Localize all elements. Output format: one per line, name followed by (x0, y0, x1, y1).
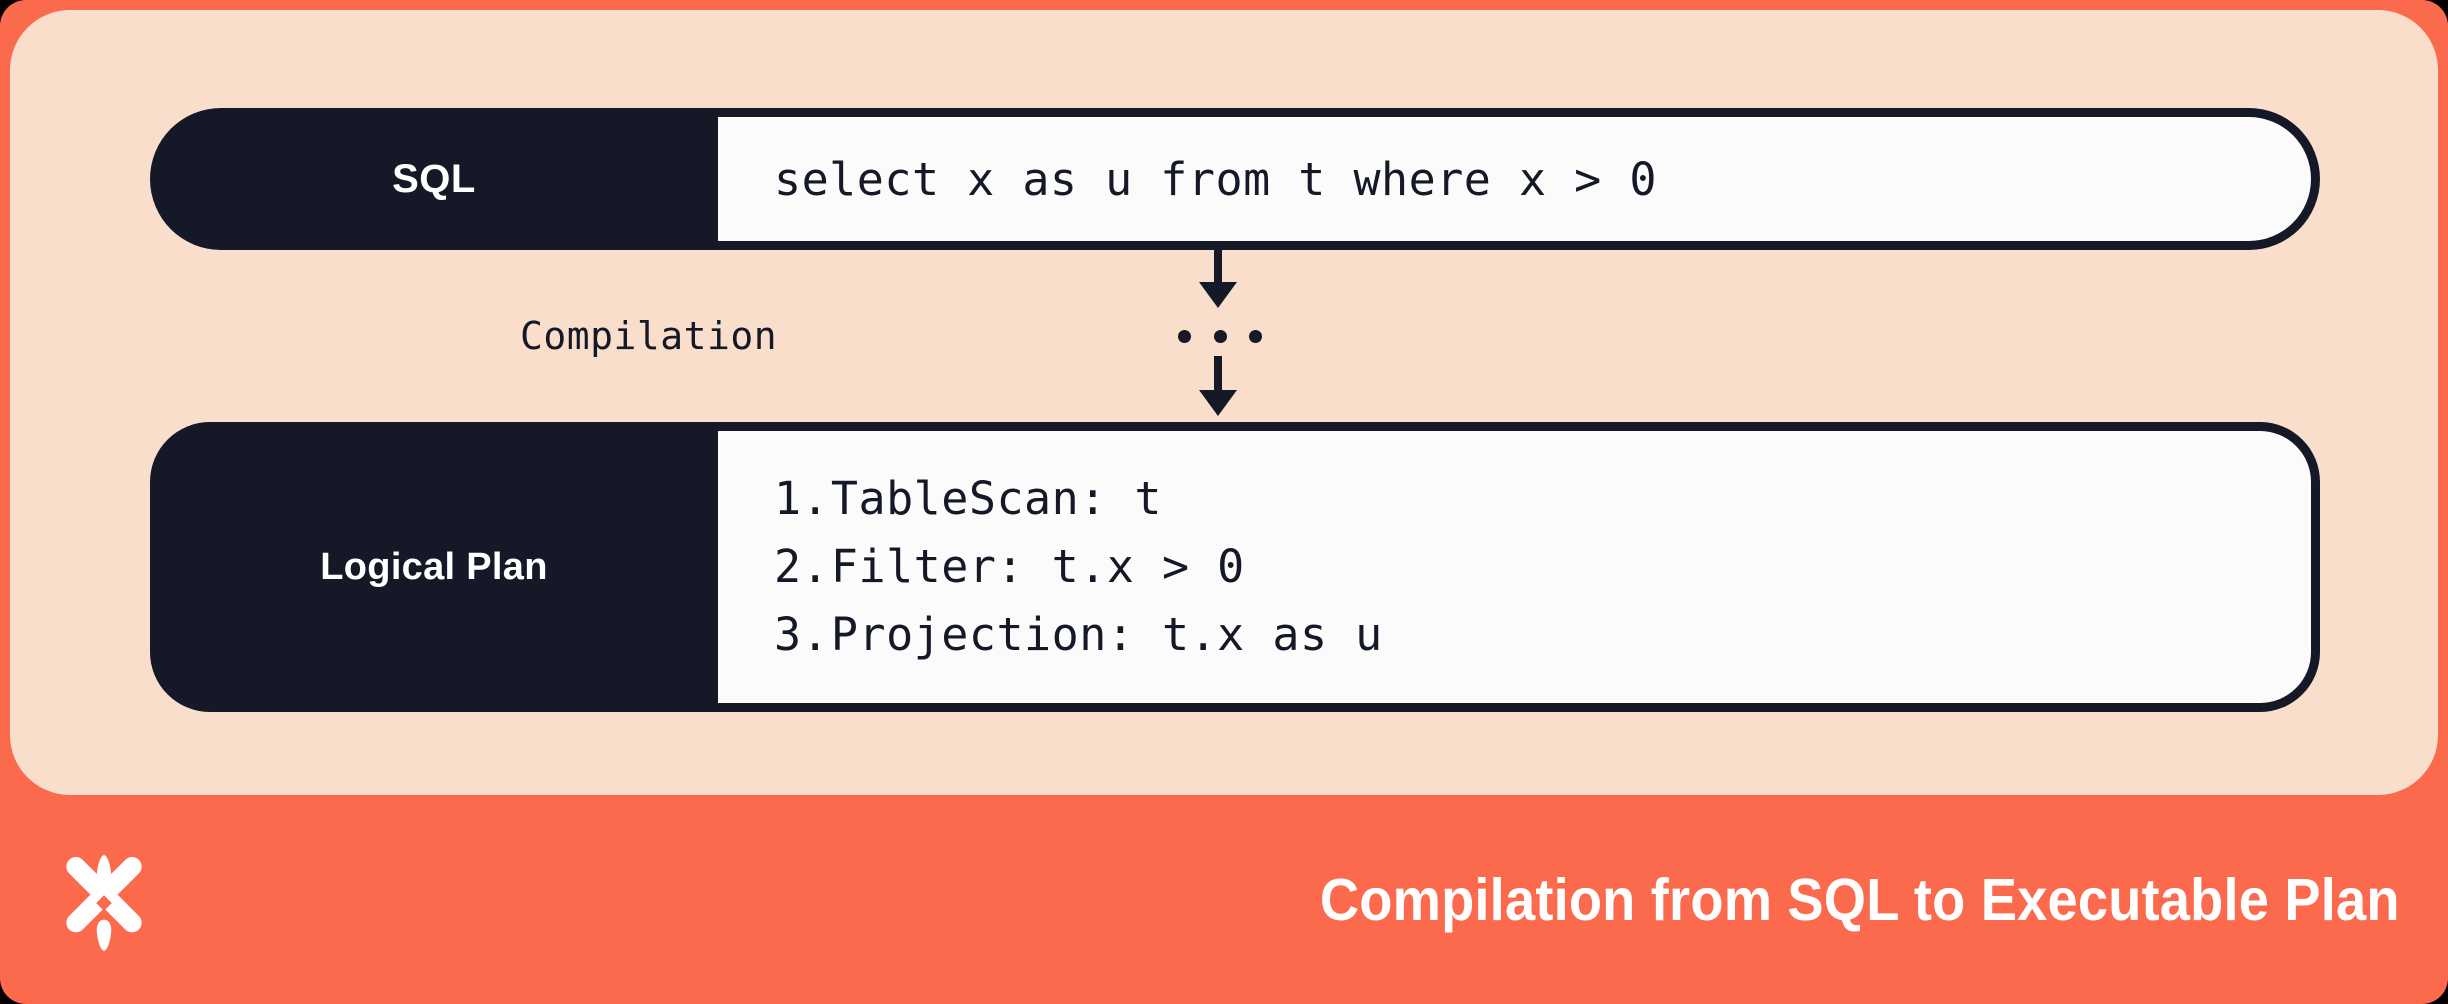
sql-query-text: select x as u from t where x > 0 (774, 153, 2311, 206)
plan-step-number: 2. (774, 533, 831, 601)
row-label-sql: SQL (150, 108, 718, 250)
footer-bar: Compilation from SQL to Executable Plan (0, 795, 2448, 1004)
ellipsis-dots-icon (1178, 330, 1262, 343)
footer-title: Compilation from SQL to Executable Plan (1320, 866, 2400, 934)
arrow-shaft (1214, 250, 1222, 286)
row-content-logical-plan: 1.TableScan: t 2.Filter: t.x > 0 3.Proje… (718, 422, 2320, 712)
plan-step: 2.Filter: t.x > 0 (774, 533, 2311, 601)
dot (1249, 330, 1262, 343)
pipeline-row-sql: SQL select x as u from t where x > 0 (150, 108, 2320, 250)
row-label-logical-plan: Logical Plan (150, 422, 718, 712)
plan-step-text: TableScan: t (831, 472, 1162, 525)
poster-card: SQL select x as u from t where x > 0 Com… (0, 0, 2448, 1004)
arrow-head (1199, 282, 1237, 308)
dot (1178, 330, 1191, 343)
compilation-connector: Compilation (150, 250, 2320, 422)
plan-step: 1.TableScan: t (774, 465, 2311, 533)
pipeline-row-logical-plan: Logical Plan 1.TableScan: t 2.Filter: t.… (150, 422, 2320, 712)
plan-step-text: Projection: t.x as u (831, 608, 1383, 661)
row-content-sql: select x as u from t where x > 0 (718, 108, 2320, 250)
arrow-shaft (1214, 356, 1222, 394)
plan-step-number: 3. (774, 601, 831, 669)
arrow-head (1199, 390, 1237, 416)
plan-step-text: Filter: t.x > 0 (831, 540, 1245, 593)
dot (1214, 330, 1227, 343)
plan-step-number: 1. (774, 465, 831, 533)
connector-label: Compilation (520, 314, 777, 358)
plan-step: 3.Projection: t.x as u (774, 601, 2311, 669)
diagram-panel: SQL select x as u from t where x > 0 Com… (10, 10, 2438, 795)
four-point-star-logo-icon (52, 851, 156, 955)
